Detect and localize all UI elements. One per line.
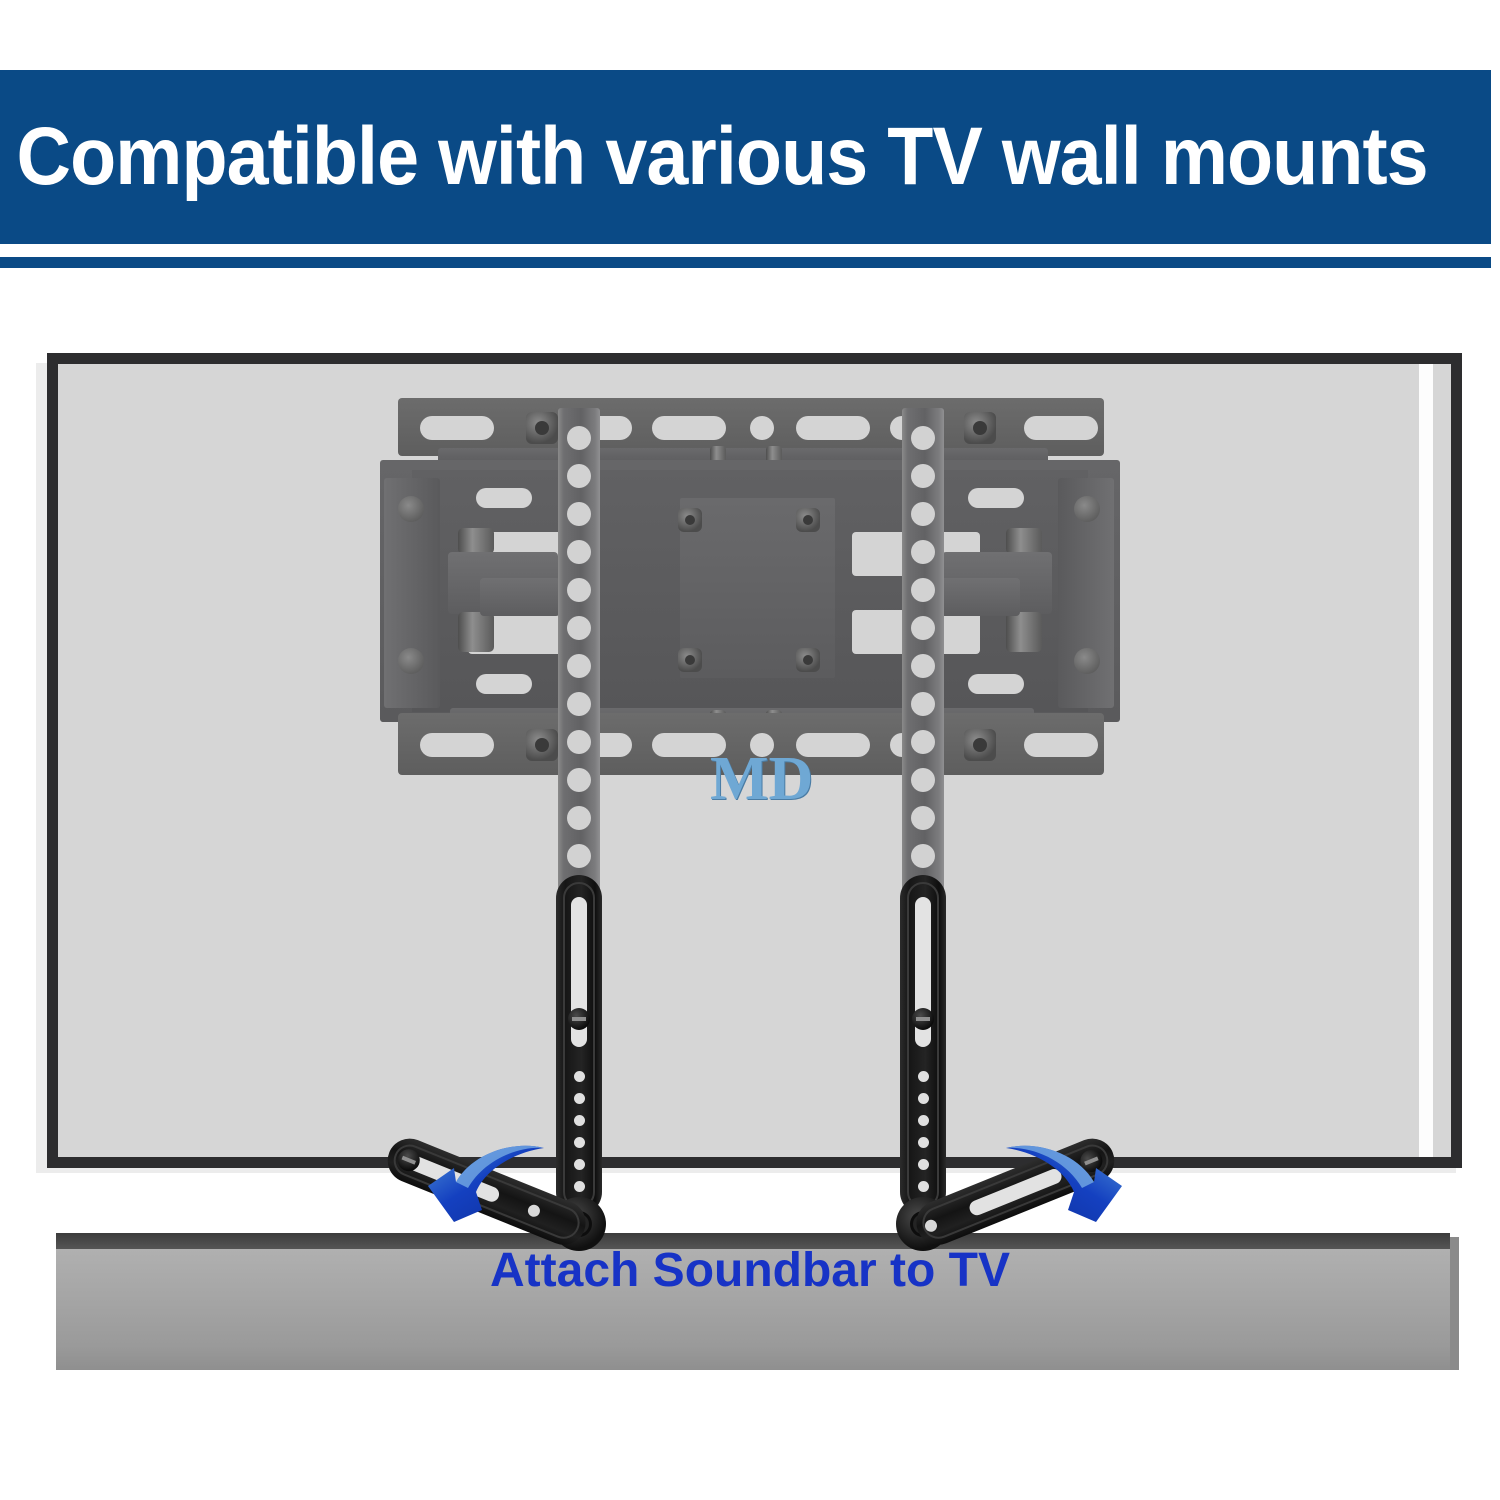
carriage-slot [968,674,1024,694]
arm-cylinder [1006,612,1042,652]
arm-cylinder [1006,528,1042,554]
plate-bolt [964,412,996,444]
ear-hole [398,648,424,674]
bracket-screw [568,1008,590,1030]
vesa-screw [796,648,820,672]
ear-hole [1074,496,1100,522]
banner-title: Compatible with various TV wall mounts [0,110,1428,204]
vesa-screw [678,508,702,532]
vesa-screw [796,508,820,532]
vesa-screw [678,648,702,672]
plate-slot [796,416,870,440]
mount-carriage-plate [380,460,1120,722]
bracket-screw [912,1008,934,1030]
plate-bolt [964,729,996,761]
arm-cylinder [458,528,494,554]
plate-bolt [526,412,558,444]
banner-underline-rule [0,257,1491,268]
articulating-arm [480,578,560,616]
plate-slot [1024,733,1098,757]
plate-bolt [526,729,558,761]
header-banner: Compatible with various TV wall mounts [0,70,1491,244]
curved-arrow-right-icon [980,1130,1130,1250]
plate-hole [750,416,774,440]
ear-hole [1074,648,1100,674]
product-illustration: MD [0,268,1500,1500]
curved-arrow-left-icon [420,1130,570,1250]
plate-slot [1024,416,1098,440]
scene-caption: Attach Soundbar to TV [0,1243,1500,1298]
brand-logo: MD [710,748,806,814]
tv-wall-mount [380,398,1120,988]
carriage-slot [968,488,1024,508]
plate-slot [420,733,494,757]
plate-slot [652,416,726,440]
arm-cylinder [458,612,494,652]
bracket-vertical-arm [900,875,946,1215]
plate-slot [420,416,494,440]
articulating-arm [940,578,1020,616]
carriage-slot [476,674,532,694]
ear-hole [398,496,424,522]
carriage-slot [476,488,532,508]
tv-screen-glare [1419,364,1433,1157]
